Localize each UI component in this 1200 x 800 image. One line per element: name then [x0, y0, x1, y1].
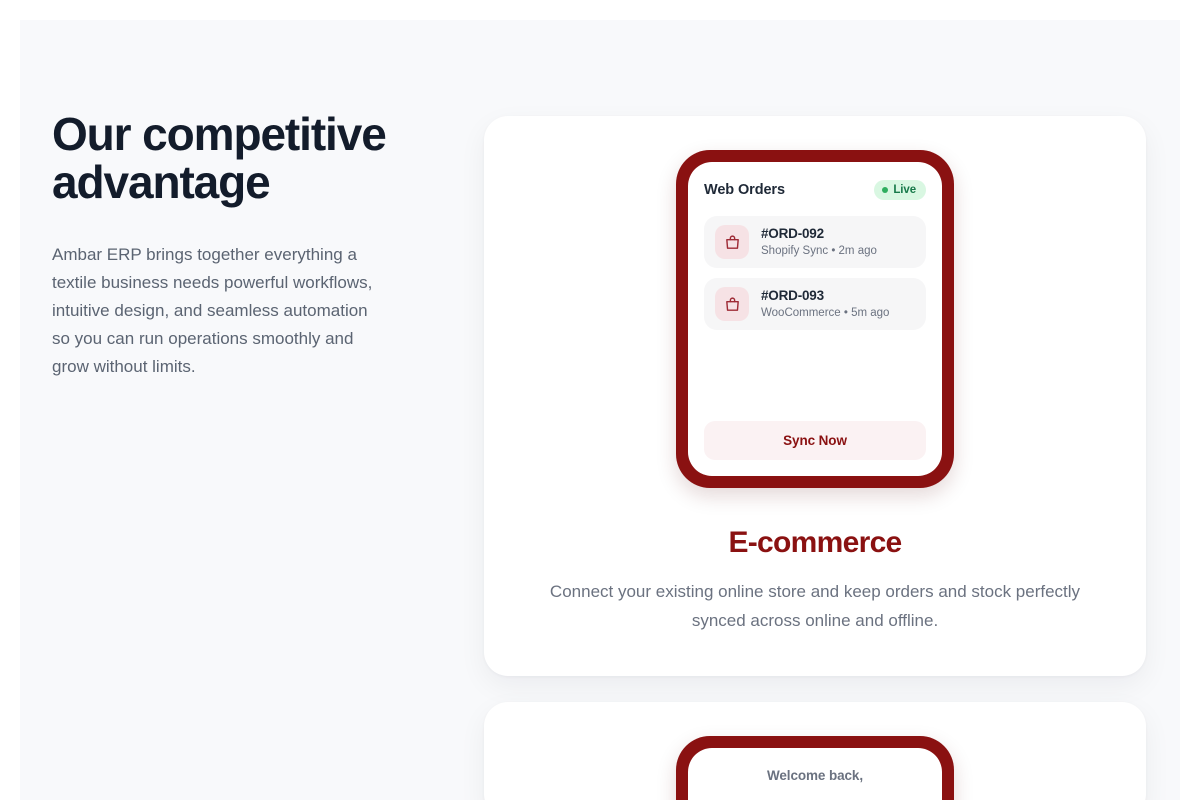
- feature-card-dashboard[interactable]: Welcome back,: [484, 702, 1146, 800]
- order-id: #ORD-092: [761, 225, 877, 243]
- page-title: Our competitive advantage: [52, 110, 432, 207]
- feature-card-ecommerce[interactable]: Web Orders Live: [484, 116, 1146, 676]
- sync-now-button[interactable]: Sync Now: [704, 421, 926, 460]
- order-text: #ORD-092 Shopify Sync • 2m ago: [761, 225, 877, 259]
- phone-mockup-ecommerce: Web Orders Live: [676, 150, 954, 488]
- competitive-advantage-section: Our competitive advantage Ambar ERP brin…: [20, 20, 1180, 800]
- screen-spacer: [704, 340, 926, 421]
- welcome-message: Welcome back,: [704, 768, 926, 783]
- status-badge-label: Live: [893, 184, 916, 196]
- page-background: Our competitive advantage Ambar ERP brin…: [20, 20, 1180, 800]
- shopping-bag-icon: [715, 287, 749, 321]
- screen-header: Web Orders Live: [704, 180, 926, 200]
- hero-subcopy: Ambar ERP brings together everything a t…: [52, 241, 387, 381]
- list-item[interactable]: #ORD-093 WooCommerce • 5m ago: [704, 278, 926, 330]
- shopping-bag-icon: [715, 225, 749, 259]
- order-text: #ORD-093 WooCommerce • 5m ago: [761, 287, 889, 321]
- hero-copy-column: Our competitive advantage Ambar ERP brin…: [52, 110, 432, 381]
- order-meta: WooCommerce • 5m ago: [761, 305, 889, 322]
- status-badge: Live: [874, 180, 926, 200]
- green-dot-icon: [882, 187, 888, 193]
- feature-title: E-commerce: [512, 526, 1118, 560]
- feature-card-column: Web Orders Live: [484, 116, 1146, 800]
- phone-mockup-dashboard: Welcome back,: [676, 736, 954, 800]
- list-item[interactable]: #ORD-092 Shopify Sync • 2m ago: [704, 216, 926, 268]
- phone-screen: Web Orders Live: [688, 162, 942, 476]
- order-id: #ORD-093: [761, 287, 889, 305]
- order-meta: Shopify Sync • 2m ago: [761, 243, 877, 260]
- screen-title: Web Orders: [704, 182, 785, 198]
- feature-description: Connect your existing online store and k…: [528, 578, 1103, 636]
- phone-screen: Welcome back,: [688, 748, 942, 800]
